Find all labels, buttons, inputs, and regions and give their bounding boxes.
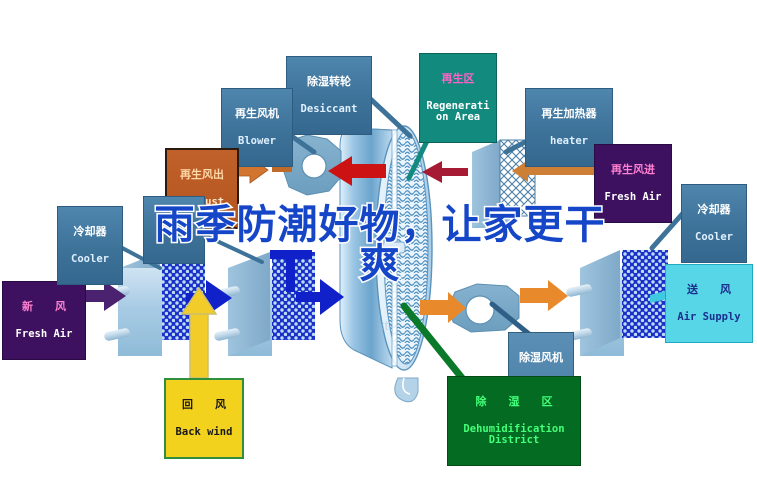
label-regeneration-area-en: Regenerati on Area bbox=[424, 101, 492, 123]
red-left-arrow-heater-to-rotor bbox=[422, 161, 468, 183]
label-fresh-air-inlet-cn: 新 风 bbox=[7, 301, 81, 313]
label-cooler-top-right: 冷却器 Cooler bbox=[681, 184, 747, 263]
label-dehumidification-district: 除 湿 区 Dehumidification District bbox=[447, 376, 581, 466]
label-cooler-left-front-cn: 冷却器 bbox=[62, 226, 118, 238]
label-dehumidification-district-cn: 除 湿 区 bbox=[452, 396, 576, 408]
label-cooler-top-right-en: Cooler bbox=[686, 232, 742, 243]
label-regeneration-area-cn: 再生区 bbox=[424, 73, 492, 85]
label-regen-blower-en: Blower bbox=[226, 136, 288, 147]
label-air-supply-cn: 送 风 bbox=[670, 284, 748, 296]
condensate-drain bbox=[395, 378, 418, 402]
label-back-wind: 回 风 Back wind bbox=[164, 378, 244, 459]
label-cooler-top-right-cn: 冷却器 bbox=[686, 204, 742, 216]
label-cooler-left-front-en: Cooler bbox=[62, 254, 118, 265]
label-desiccant-en: Desiccant bbox=[291, 104, 367, 115]
label-cooler-left-back: 冷却器 bbox=[143, 196, 205, 264]
label-desiccant-cn: 除湿转轮 bbox=[291, 76, 367, 88]
label-back-wind-en: Back wind bbox=[170, 427, 238, 438]
label-exhaust-cn: 再生风出 bbox=[171, 169, 233, 181]
label-desiccant: 除湿转轮 Desiccant bbox=[286, 56, 372, 135]
svg-text:xt: xt bbox=[378, 318, 389, 333]
label-air-supply: 送 风 Air Supply bbox=[665, 264, 753, 343]
label-cooler-left-front: 冷却器 Cooler bbox=[57, 206, 123, 285]
label-regen-fresh-air-en: Fresh Air bbox=[599, 192, 667, 203]
label-regen-fresh-air: 再生风进 Fresh Air bbox=[594, 144, 672, 223]
label-regeneration-area: 再生区 Regenerati on Area bbox=[419, 53, 497, 143]
label-dehumidification-district-en: Dehumidification District bbox=[452, 424, 576, 446]
label-regen-fresh-air-cn: 再生风进 bbox=[599, 164, 667, 176]
label-dehumidify-blower-cn: 除湿风机 bbox=[513, 352, 569, 364]
label-back-wind-cn: 回 风 bbox=[170, 399, 238, 411]
label-regen-heater-cn: 再生加热器 bbox=[530, 108, 608, 120]
label-fresh-air-inlet: 新 风 Fresh Air bbox=[2, 281, 86, 360]
label-air-supply-en: Air Supply bbox=[670, 312, 748, 323]
orange-right-arrow-to-cooler3 bbox=[520, 280, 568, 311]
cooler-coil-block-3 bbox=[565, 250, 668, 356]
label-fresh-air-inlet-en: Fresh Air bbox=[7, 329, 81, 340]
label-cooler-left-back-cn: 冷却器 bbox=[148, 216, 200, 228]
cooler-coil-block-2 bbox=[213, 252, 315, 356]
label-regen-blower-cn: 再生风机 bbox=[226, 108, 288, 120]
diagram-canvas: xt bbox=[0, 0, 757, 488]
